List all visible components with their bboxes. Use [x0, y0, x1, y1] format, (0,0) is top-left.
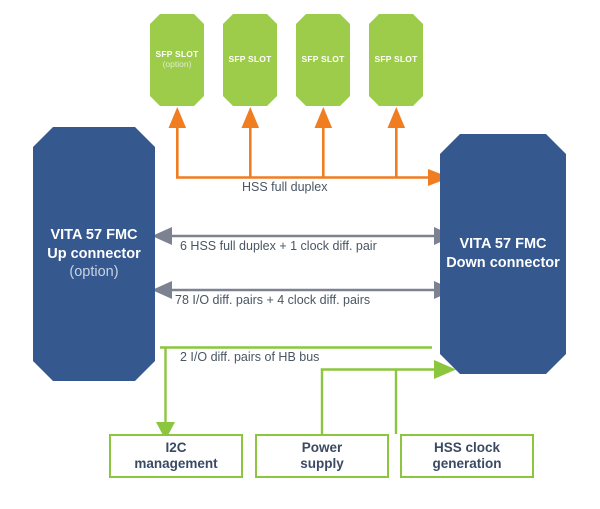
sfp-slot-2-label: SFP SLOT: [228, 55, 271, 65]
i2c-management-line1: I2C: [165, 440, 186, 456]
supply-clock-green-path: [321, 360, 456, 434]
label-hss-full-duplex: HSS full duplex: [242, 180, 327, 194]
arrowhead-left-2: [152, 281, 172, 299]
arrowhead-to-sfp-2: [242, 107, 260, 128]
vita57-fmc-up-connector[interactable]: VITA 57 FMC Up connector (option): [33, 127, 155, 381]
power-supply-line1: Power: [302, 440, 343, 456]
arrowhead-left-1: [152, 227, 172, 245]
box-hss-clock-generation[interactable]: HSS clock generation: [400, 434, 534, 478]
sfp-slot-4[interactable]: SFP SLOT: [369, 14, 423, 106]
box-power-supply[interactable]: Power supply: [255, 434, 389, 478]
down-connector-line1: VITA 57 FMC: [459, 235, 546, 254]
sfp-slot-3-label: SFP SLOT: [301, 55, 344, 65]
sfp-slot-1[interactable]: SFP SLOT (option): [150, 14, 204, 106]
sfp-slot-2[interactable]: SFP SLOT: [223, 14, 277, 106]
up-connector-line1: VITA 57 FMC: [50, 226, 137, 245]
hss-full-duplex-orange-bus: [169, 107, 451, 186]
hss-clock-generation-line2: generation: [432, 456, 501, 472]
label-hss-clock-pair: 6 HSS full duplex + 1 clock diff. pair: [180, 239, 377, 253]
down-connector-line2: Down connector: [446, 254, 560, 273]
fmc-block-diagram: SFP SLOT (option) SFP SLOT SFP SLOT SFP …: [0, 0, 600, 509]
arrowhead-to-sfp-4: [388, 107, 406, 128]
i2c-management-line2: management: [134, 456, 217, 472]
box-i2c-management[interactable]: I2C management: [109, 434, 243, 478]
label-hb-bus: 2 I/O diff. pairs of HB bus: [180, 350, 319, 364]
sfp-slot-4-label: SFP SLOT: [374, 55, 417, 65]
sfp-slot-1-option: (option): [163, 60, 192, 70]
power-supply-line2: supply: [300, 456, 344, 472]
arrowhead-to-sfp-3: [315, 107, 333, 128]
label-io-pairs: 78 I/O diff. pairs + 4 clock diff. pairs: [175, 293, 370, 307]
up-connector-line2: Up connector: [47, 245, 140, 264]
up-connector-option: (option): [69, 263, 118, 282]
arrowhead-to-sfp-1: [169, 107, 187, 128]
vita57-fmc-down-connector[interactable]: VITA 57 FMC Down connector: [440, 134, 566, 374]
hss-clock-generation-line1: HSS clock: [434, 440, 500, 456]
sfp-slot-3[interactable]: SFP SLOT: [296, 14, 350, 106]
